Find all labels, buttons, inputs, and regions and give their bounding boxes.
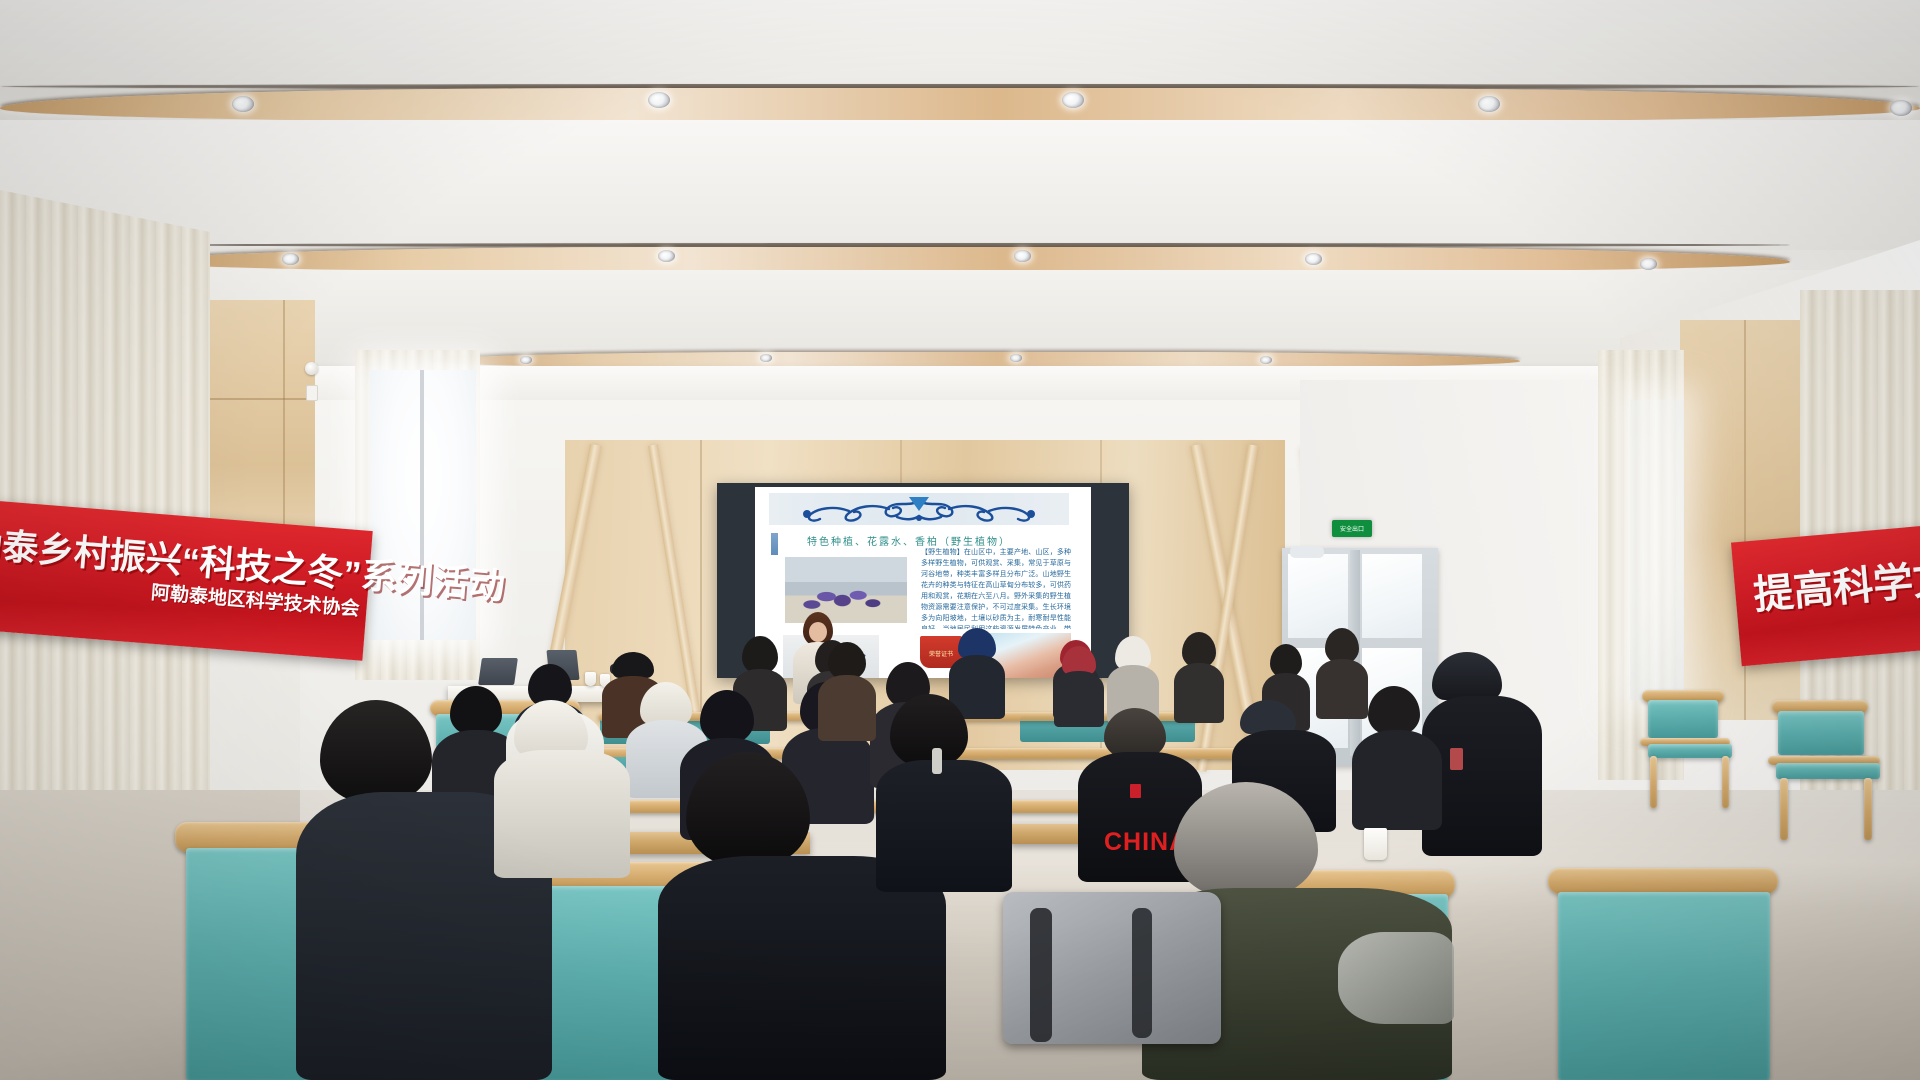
slide-body-text: 【野生植物】在山区中，主要产地、山区，多种多样野生植物，可供观赏、采集，常见于草… [921, 547, 1071, 629]
certificate-label: 荣誉证书 [922, 649, 960, 658]
downlight-13 [1010, 354, 1022, 362]
emergency-exit-sign: 安全出口 [1332, 520, 1372, 537]
ceiling-beam-2 [150, 247, 1790, 272]
empty-chair-2-leg-b [1864, 778, 1872, 840]
ponytail-body [876, 760, 1012, 892]
cup-table-left [585, 672, 596, 686]
banner-right: 提高科学文 [1731, 520, 1920, 666]
door-glass-top-left [1288, 554, 1348, 638]
mobile-phone[interactable] [1450, 748, 1463, 770]
left-wall-wood-seam-h [205, 398, 315, 400]
downlight-14 [1260, 356, 1272, 364]
ceiling-beam-1 [0, 88, 1920, 122]
attendee-head [700, 690, 754, 744]
wall-switch-plate [306, 385, 318, 401]
slide-title: 特色种植、花露水、香柏（野生植物） [807, 533, 1069, 547]
downlight-10 [1640, 258, 1657, 270]
slide-header-band [769, 493, 1069, 525]
downlight-5 [1890, 100, 1912, 116]
empty-chair-3-frame[interactable] [1548, 868, 1778, 894]
attendee-head [1368, 686, 1420, 736]
downlight-7 [658, 250, 675, 262]
downlight-6 [282, 253, 299, 265]
attendee-body [1316, 659, 1368, 719]
ceiling-panel-upper [0, 0, 1920, 88]
attendee-body [818, 675, 876, 741]
left-curtain [0, 190, 210, 810]
slide-image-lavender-field [785, 557, 907, 623]
white-hood-body [494, 750, 630, 878]
slide-side-mark [771, 533, 778, 555]
right-window [1630, 400, 1684, 700]
downlight-11 [520, 356, 532, 364]
door-closer [1290, 546, 1324, 558]
downlight-12 [760, 354, 772, 362]
door-glass-top-right [1362, 554, 1422, 638]
photo-scene: 特色种植、花露水、香柏（野生植物） 【野生植物】在山区中，主要产地、山区，多种多… [0, 0, 1920, 1080]
downlight-3 [1062, 92, 1084, 108]
foreground-right-shoulder-highlight [1338, 932, 1454, 1024]
downlight-8 [1014, 250, 1031, 262]
laptop-left[interactable] [478, 658, 518, 685]
exit-sign-text: 安全出口 [1340, 524, 1364, 533]
ceiling-panel-mid [0, 120, 1920, 250]
empty-chair-3-seat[interactable] [1558, 892, 1770, 1080]
empty-chair-1-leg-a [1650, 756, 1657, 808]
attendee-body [1054, 671, 1104, 727]
downlight-9 [1305, 253, 1322, 265]
banner-right-main-text: 提高科学文 [1751, 546, 1920, 621]
downlight-1 [232, 96, 254, 112]
empty-chair-1-leg-b [1722, 756, 1729, 808]
empty-chair-2-leg-a [1780, 778, 1788, 840]
flourish-ornament-icon [769, 493, 1069, 525]
paper-cup-table[interactable] [1364, 828, 1387, 860]
hair-clip [932, 748, 942, 774]
presenter-face [809, 622, 827, 642]
empty-chair-2-seat[interactable] [1776, 763, 1880, 779]
attendee-head [450, 686, 502, 736]
attendee-body [1174, 663, 1224, 723]
empty-chair-1-back[interactable] [1648, 700, 1718, 738]
empty-chair-2-back[interactable] [1778, 711, 1864, 755]
bag-strap-2 [1132, 908, 1152, 1038]
china-jacket-flag-patch [1130, 784, 1141, 798]
attendee-body [1352, 730, 1442, 830]
empty-chair-1-seat[interactable] [1648, 744, 1732, 758]
bag-strap [1030, 908, 1052, 1042]
thermostat-icon [305, 362, 318, 375]
downlight-4 [1478, 96, 1500, 112]
downlight-2 [648, 92, 670, 108]
